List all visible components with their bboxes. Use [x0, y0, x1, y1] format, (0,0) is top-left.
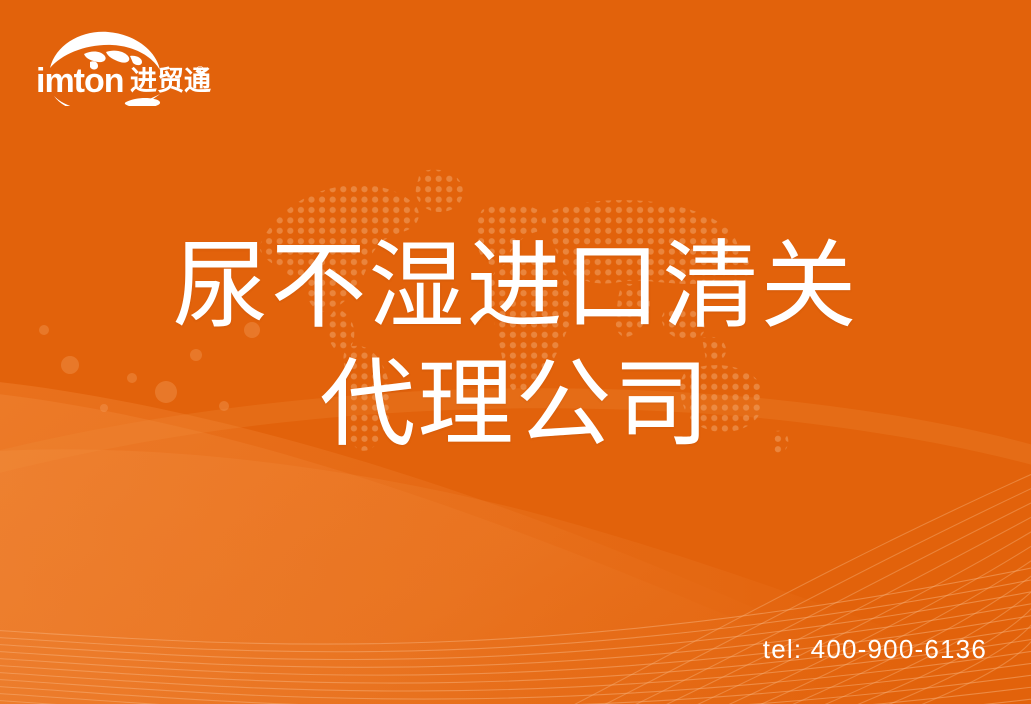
page-title: 尿不湿进口清关 代理公司 [0, 228, 1031, 464]
promo-banner: imton 进贸通 ® 尿不湿进口清关 代理公司 tel: 400-900-61… [0, 0, 1031, 704]
headline-line-1: 尿不湿进口清关 [0, 228, 1031, 346]
brand-logo[interactable]: imton 进贸通 ® [34, 26, 214, 106]
headline-line-2: 代理公司 [0, 346, 1031, 464]
logo-wordmark: imton [36, 62, 124, 100]
contact-telephone: tel: 400-900-6136 [763, 634, 987, 665]
registered-mark-icon: ® [196, 65, 204, 77]
